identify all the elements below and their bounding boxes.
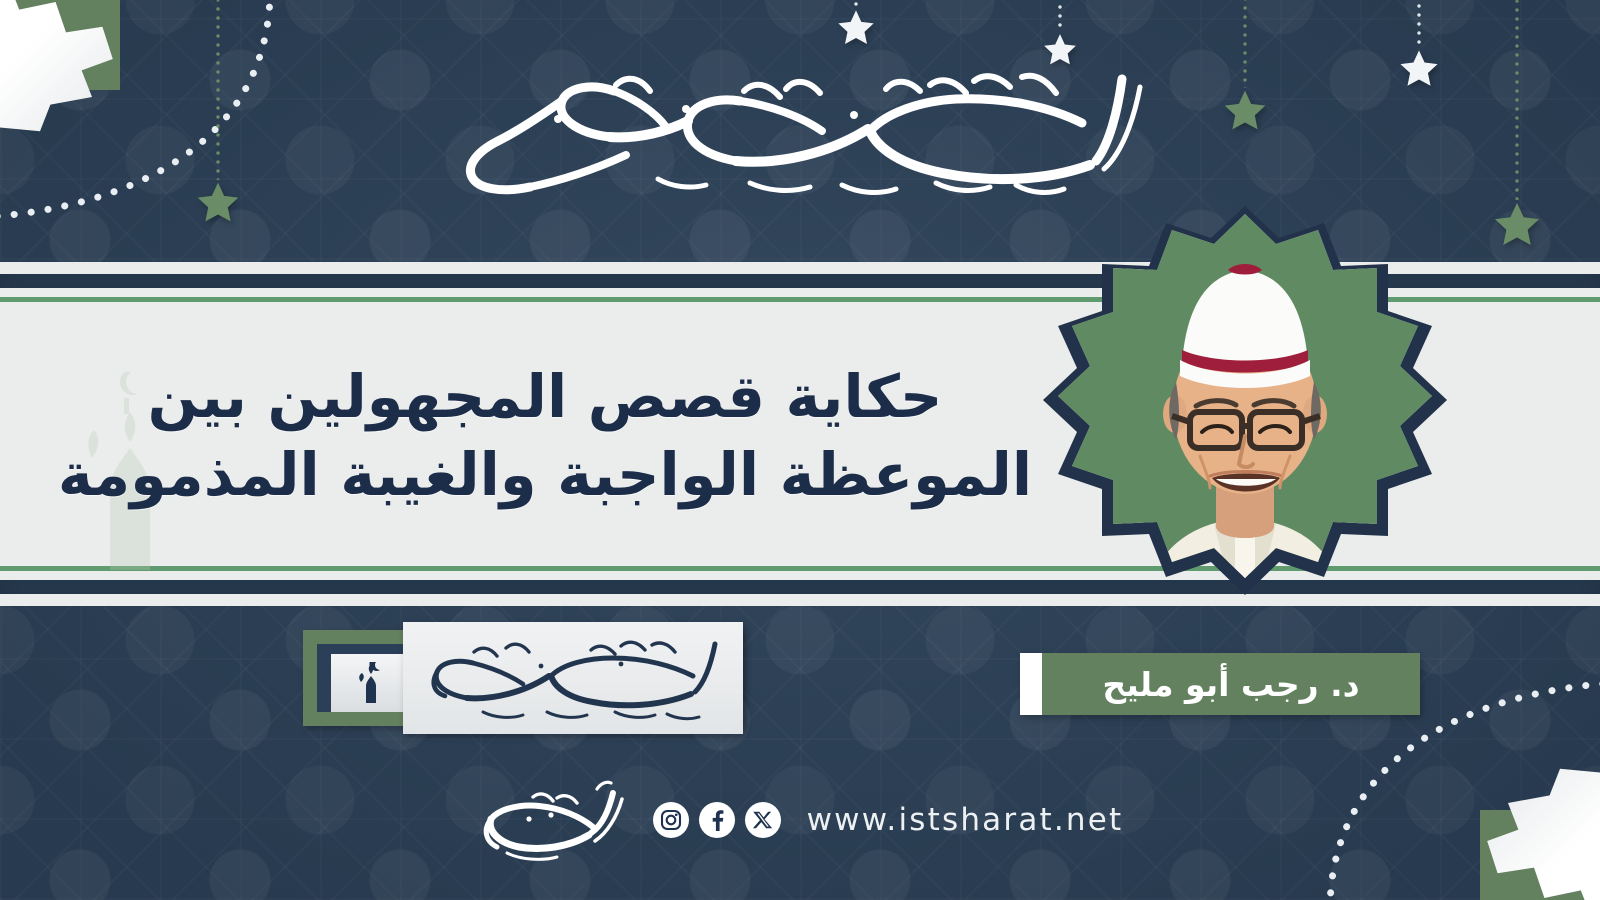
green-star [195, 180, 241, 226]
green-star [1492, 200, 1542, 250]
green-star [1222, 88, 1268, 134]
speaker-name-badge: د. رجب أبو مليح [1020, 653, 1420, 715]
instagram-icon[interactable] [653, 802, 689, 838]
hanging-star-white-right-a [1042, 0, 1078, 68]
title-line-2: الموعظة الواجبة والغيبة المذمومة [58, 436, 1032, 514]
mosque-crescent-icon [347, 662, 387, 704]
social-links[interactable] [653, 802, 781, 838]
scalloped-frame [1030, 200, 1460, 620]
hanging-star-white-center [836, 0, 876, 48]
facebook-icon[interactable] [699, 802, 735, 838]
white-star [1042, 32, 1078, 68]
hanging-star-green-far-right [1492, 0, 1542, 250]
page-title: حكاية قصص المجهولين بين الموعظة الواجبة … [130, 318, 960, 553]
category-icon-tile [331, 654, 403, 712]
dotted-arc-top-left [0, 0, 290, 250]
poster-canvas: حكاية قصص المجهولين بين الموعظة الواجبة … [0, 0, 1600, 900]
category-calligraphy [403, 622, 743, 734]
website-url[interactable]: www.istsharat.net [807, 802, 1124, 838]
speaker-name-text: د. رجب أبو مليح [1102, 665, 1359, 704]
footer-bar: www.istsharat.net [0, 770, 1600, 870]
hanging-star-green-right [1222, 0, 1268, 134]
speaker-portrait [1030, 200, 1460, 620]
speaker-name-accent-tab [1020, 653, 1042, 715]
speaker-name-plate: د. رجب أبو مليح [1042, 653, 1420, 715]
category-badge[interactable] [303, 622, 743, 734]
hanging-star-white-right-b [1398, 0, 1440, 90]
white-star [1398, 48, 1440, 90]
x-twitter-icon[interactable] [745, 802, 781, 838]
title-line-1: حكاية قصص المجهولين بين [148, 358, 943, 436]
footer-brand-calligraphy [477, 775, 627, 865]
white-star [836, 8, 876, 48]
hanging-star-green-left [195, 0, 241, 226]
